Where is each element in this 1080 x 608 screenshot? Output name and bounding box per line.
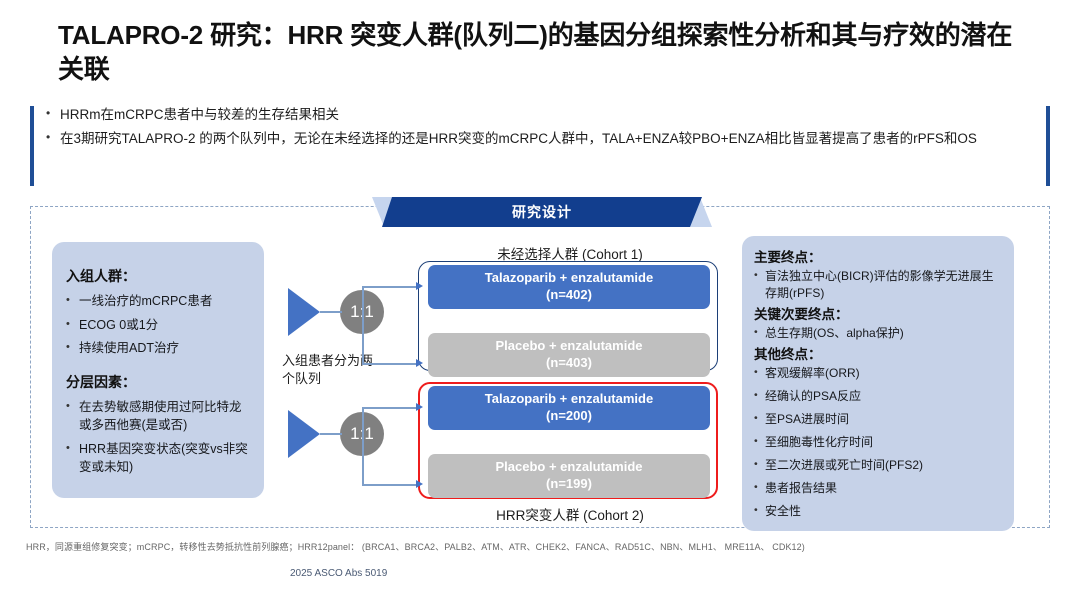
connector-line bbox=[362, 286, 418, 288]
summary-accent-bar-left bbox=[30, 106, 34, 186]
treatment-arm-name: Talazoparib + enzalutamide bbox=[485, 270, 653, 287]
banner-body: 研究设计 bbox=[382, 197, 702, 227]
enrollment-panel: 入组人群： • 一线治疗的mCRPC患者 • ECOG 0或1分 • 持续使用A… bbox=[52, 242, 264, 498]
primary-endpoint-item: 盲法独立中心(BICR)评估的影像学无进展生存期(rPFS) bbox=[765, 268, 1002, 302]
enrollment-heading: 入组人群： bbox=[66, 266, 250, 286]
treatment-arm-n: (n=200) bbox=[546, 408, 592, 425]
treatment-arm-name: Placebo + enzalutamide bbox=[495, 459, 642, 476]
bullet-icon: • bbox=[66, 398, 79, 414]
list-item: • ECOG 0或1分 bbox=[66, 316, 250, 335]
bullet-icon: • bbox=[46, 104, 60, 123]
primary-endpoint-heading: 主要终点： bbox=[754, 246, 1002, 266]
bullet-icon: • bbox=[46, 128, 60, 147]
enrollment-criterion: 一线治疗的mCRPC患者 bbox=[79, 292, 250, 311]
summary-bullet-list: • HRRm在mCRPC患者中与较差的生存结果相关 • 在3期研究TALAPRO… bbox=[46, 104, 1028, 152]
cohort-2-label: HRR突变人群 (Cohort 2) bbox=[405, 504, 735, 524]
bullet-icon: • bbox=[754, 365, 765, 380]
list-item: • 在去势敏感期使用过阿比特龙或多西他赛(是或否) bbox=[66, 398, 250, 435]
study-design-banner: 研究设计 bbox=[372, 197, 712, 227]
page-title: TALAPRO-2 研究：HRR 突变人群(队列二)的基因分组探索性分析和其与疗… bbox=[58, 18, 1018, 87]
bullet-icon: • bbox=[754, 411, 765, 426]
stratification-factor: 在去势敏感期使用过阿比特龙或多西他赛(是或否) bbox=[79, 398, 250, 435]
other-endpoint-item: 经确认的PSA反应 bbox=[765, 388, 1002, 405]
key-secondary-endpoint-item: 总生存期(OS、alpha保护) bbox=[765, 325, 1002, 342]
bullet-icon: • bbox=[754, 480, 765, 495]
banner-label: 研究设计 bbox=[512, 202, 572, 222]
other-endpoint-item: 客观缓解率(ORR) bbox=[765, 365, 1002, 382]
other-endpoint-item: 患者报告结果 bbox=[765, 480, 1002, 497]
summary-bullet-text: 在3期研究TALAPRO-2 的两个队列中，无论在未经选择的还是HRR突变的mC… bbox=[60, 128, 1028, 150]
connector-line bbox=[362, 484, 418, 486]
list-item: • 至二次进展或死亡时间(PFS2) bbox=[754, 457, 1002, 474]
enrollment-criterion: 持续使用ADT治疗 bbox=[79, 339, 250, 358]
enrollment-criterion: ECOG 0或1分 bbox=[79, 316, 250, 335]
treatment-arm-name: Talazoparib + enzalutamide bbox=[485, 391, 653, 408]
list-item: • 在3期研究TALAPRO-2 的两个队列中，无论在未经选择的还是HRR突变的… bbox=[46, 128, 1028, 150]
bullet-icon: • bbox=[754, 503, 765, 518]
arrowhead-icon bbox=[416, 359, 423, 367]
treatment-arm-box: Talazoparib + enzalutamide (n=402) bbox=[428, 265, 710, 309]
connector-line bbox=[320, 311, 342, 313]
other-endpoint-heading: 其他终点： bbox=[754, 343, 1002, 363]
key-secondary-endpoint-heading: 关键次要终点： bbox=[754, 303, 1002, 323]
other-endpoint-item: 至PSA进展时间 bbox=[765, 411, 1002, 428]
connector-line bbox=[362, 286, 364, 364]
treatment-arm-name: Placebo + enzalutamide bbox=[495, 338, 642, 355]
treatment-arm-n: (n=403) bbox=[546, 355, 592, 372]
treatment-arm-box: Placebo + enzalutamide (n=199) bbox=[428, 454, 710, 498]
treatment-arm-box: Talazoparib + enzalutamide (n=200) bbox=[428, 386, 710, 430]
cohort-2-funnel-triangle-icon bbox=[288, 410, 320, 458]
treatment-arm-box: Placebo + enzalutamide (n=403) bbox=[428, 333, 710, 377]
list-item: • 患者报告结果 bbox=[754, 480, 1002, 497]
bullet-icon: • bbox=[66, 440, 79, 456]
list-item: • 安全性 bbox=[754, 503, 1002, 520]
list-item: • 一线治疗的mCRPC患者 bbox=[66, 292, 250, 311]
abbreviation-footnote: HRR，同源重组修复突变；mCRPC，转移性去势抵抗性前列腺癌；HRR12pan… bbox=[26, 540, 1056, 553]
stratification-factor: HRR基因突变状态(突变vs非突变或未知) bbox=[79, 440, 250, 477]
list-item: • 总生存期(OS、alpha保护) bbox=[754, 325, 1002, 342]
summary-accent-bar-right bbox=[1046, 106, 1050, 186]
arrowhead-icon bbox=[416, 282, 423, 290]
bullet-icon: • bbox=[754, 325, 765, 340]
list-item: • 盲法独立中心(BICR)评估的影像学无进展生存期(rPFS) bbox=[754, 268, 1002, 302]
randomization-split-label: 入组患者分为两个队列 bbox=[282, 352, 374, 388]
cohort-1-label: 未经选择人群 (Cohort 1) bbox=[405, 243, 735, 263]
summary-block: • HRRm在mCRPC患者中与较差的生存结果相关 • 在3期研究TALAPRO… bbox=[30, 104, 1050, 188]
summary-bullet-text: HRRm在mCRPC患者中与较差的生存结果相关 bbox=[60, 104, 1028, 126]
connector-line bbox=[362, 407, 418, 409]
list-item: • HRRm在mCRPC患者中与较差的生存结果相关 bbox=[46, 104, 1028, 126]
endpoints-panel: 主要终点： • 盲法独立中心(BICR)评估的影像学无进展生存期(rPFS) 关… bbox=[742, 236, 1014, 531]
bullet-icon: • bbox=[754, 388, 765, 403]
bullet-icon: • bbox=[754, 434, 765, 449]
list-item: • 经确认的PSA反应 bbox=[754, 388, 1002, 405]
list-item: • HRR基因突变状态(突变vs非突变或未知) bbox=[66, 440, 250, 477]
treatment-arm-n: (n=402) bbox=[546, 287, 592, 304]
other-endpoint-item: 至细胞毒性化疗时间 bbox=[765, 434, 1002, 451]
bullet-icon: • bbox=[754, 457, 765, 472]
cohort-1-funnel-triangle-icon bbox=[288, 288, 320, 336]
list-item: • 至细胞毒性化疗时间 bbox=[754, 434, 1002, 451]
list-item: • 客观缓解率(ORR) bbox=[754, 365, 1002, 382]
arrowhead-icon bbox=[416, 480, 423, 488]
bullet-icon: • bbox=[66, 292, 79, 308]
other-endpoint-item: 至二次进展或死亡时间(PFS2) bbox=[765, 457, 1002, 474]
other-endpoint-item: 安全性 bbox=[765, 503, 1002, 520]
list-item: • 至PSA进展时间 bbox=[754, 411, 1002, 428]
treatment-arm-n: (n=199) bbox=[546, 476, 592, 493]
source-citation: 2025 ASCO Abs 5019 bbox=[290, 568, 387, 579]
connector-line bbox=[320, 433, 342, 435]
bullet-icon: • bbox=[754, 268, 765, 283]
connector-line bbox=[362, 407, 364, 485]
stratification-heading: 分层因素： bbox=[66, 372, 250, 392]
arrowhead-icon bbox=[416, 403, 423, 411]
bullet-icon: • bbox=[66, 316, 79, 332]
bullet-icon: • bbox=[66, 339, 79, 355]
connector-line bbox=[362, 363, 418, 365]
list-item: • 持续使用ADT治疗 bbox=[66, 339, 250, 358]
